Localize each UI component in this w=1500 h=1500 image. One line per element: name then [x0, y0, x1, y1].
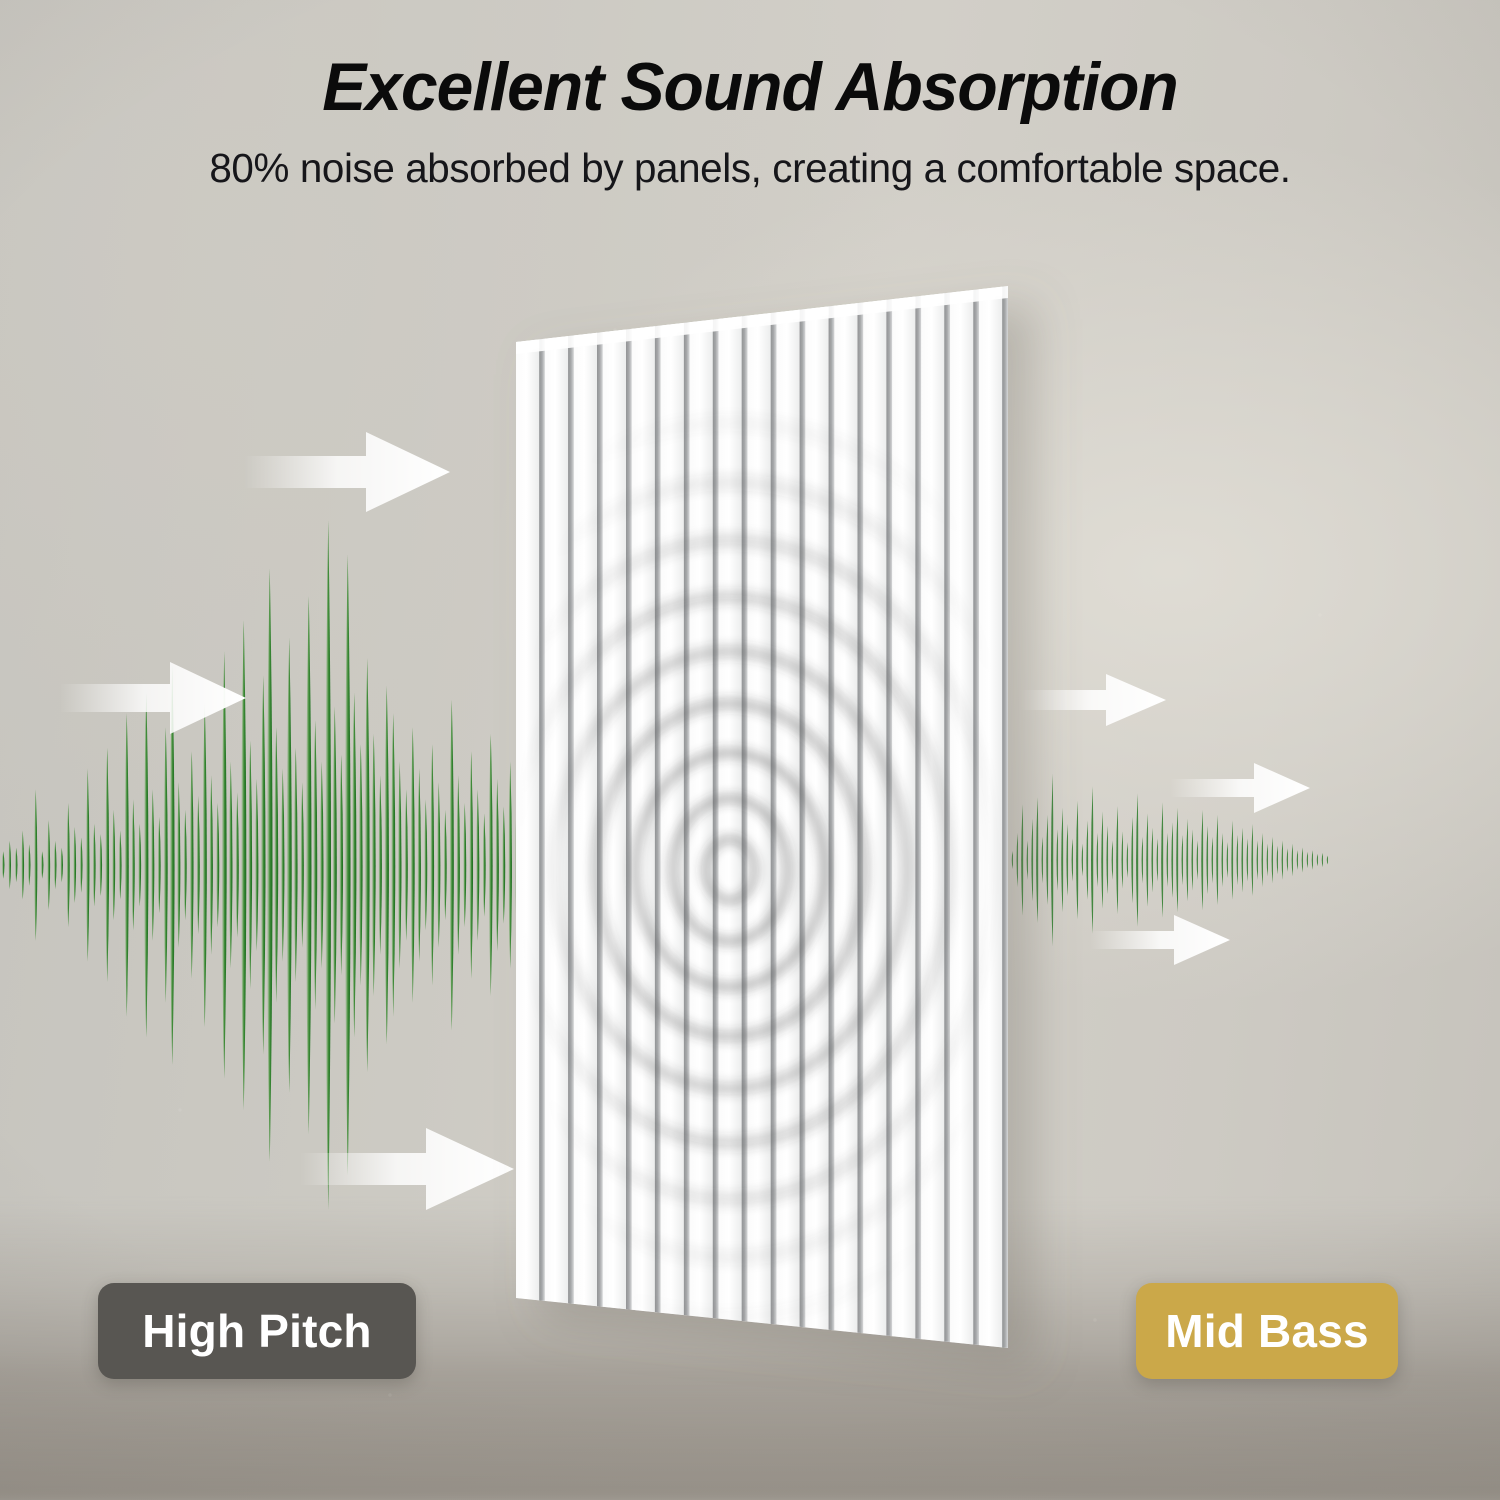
- sound-arrow-left-middle: [60, 655, 246, 741]
- page-title: Excellent Sound Absorption: [23, 52, 1478, 123]
- slat-acoustic-panel: [516, 286, 1008, 1396]
- sound-arrow-right-middle: [1170, 758, 1310, 818]
- product-feature-image: Excellent Sound Absorption 80% noise abs…: [0, 0, 1500, 1500]
- status-badge-mid-bass: Mid Bass: [1136, 1283, 1398, 1379]
- page-subtitle: 80% noise absorbed by panels, creating a…: [11, 145, 1489, 192]
- heading-block: Excellent Sound Absorption 80% noise abs…: [0, 52, 1500, 192]
- sound-arrow-left-bottom: [300, 1120, 514, 1218]
- sound-arrow-right-top: [1018, 668, 1166, 732]
- status-badge-high-pitch: High Pitch: [98, 1283, 416, 1379]
- panel-slats: [516, 286, 1008, 1348]
- sound-arrow-left-top: [244, 424, 450, 520]
- sound-arrow-right-bottom: [1090, 910, 1230, 970]
